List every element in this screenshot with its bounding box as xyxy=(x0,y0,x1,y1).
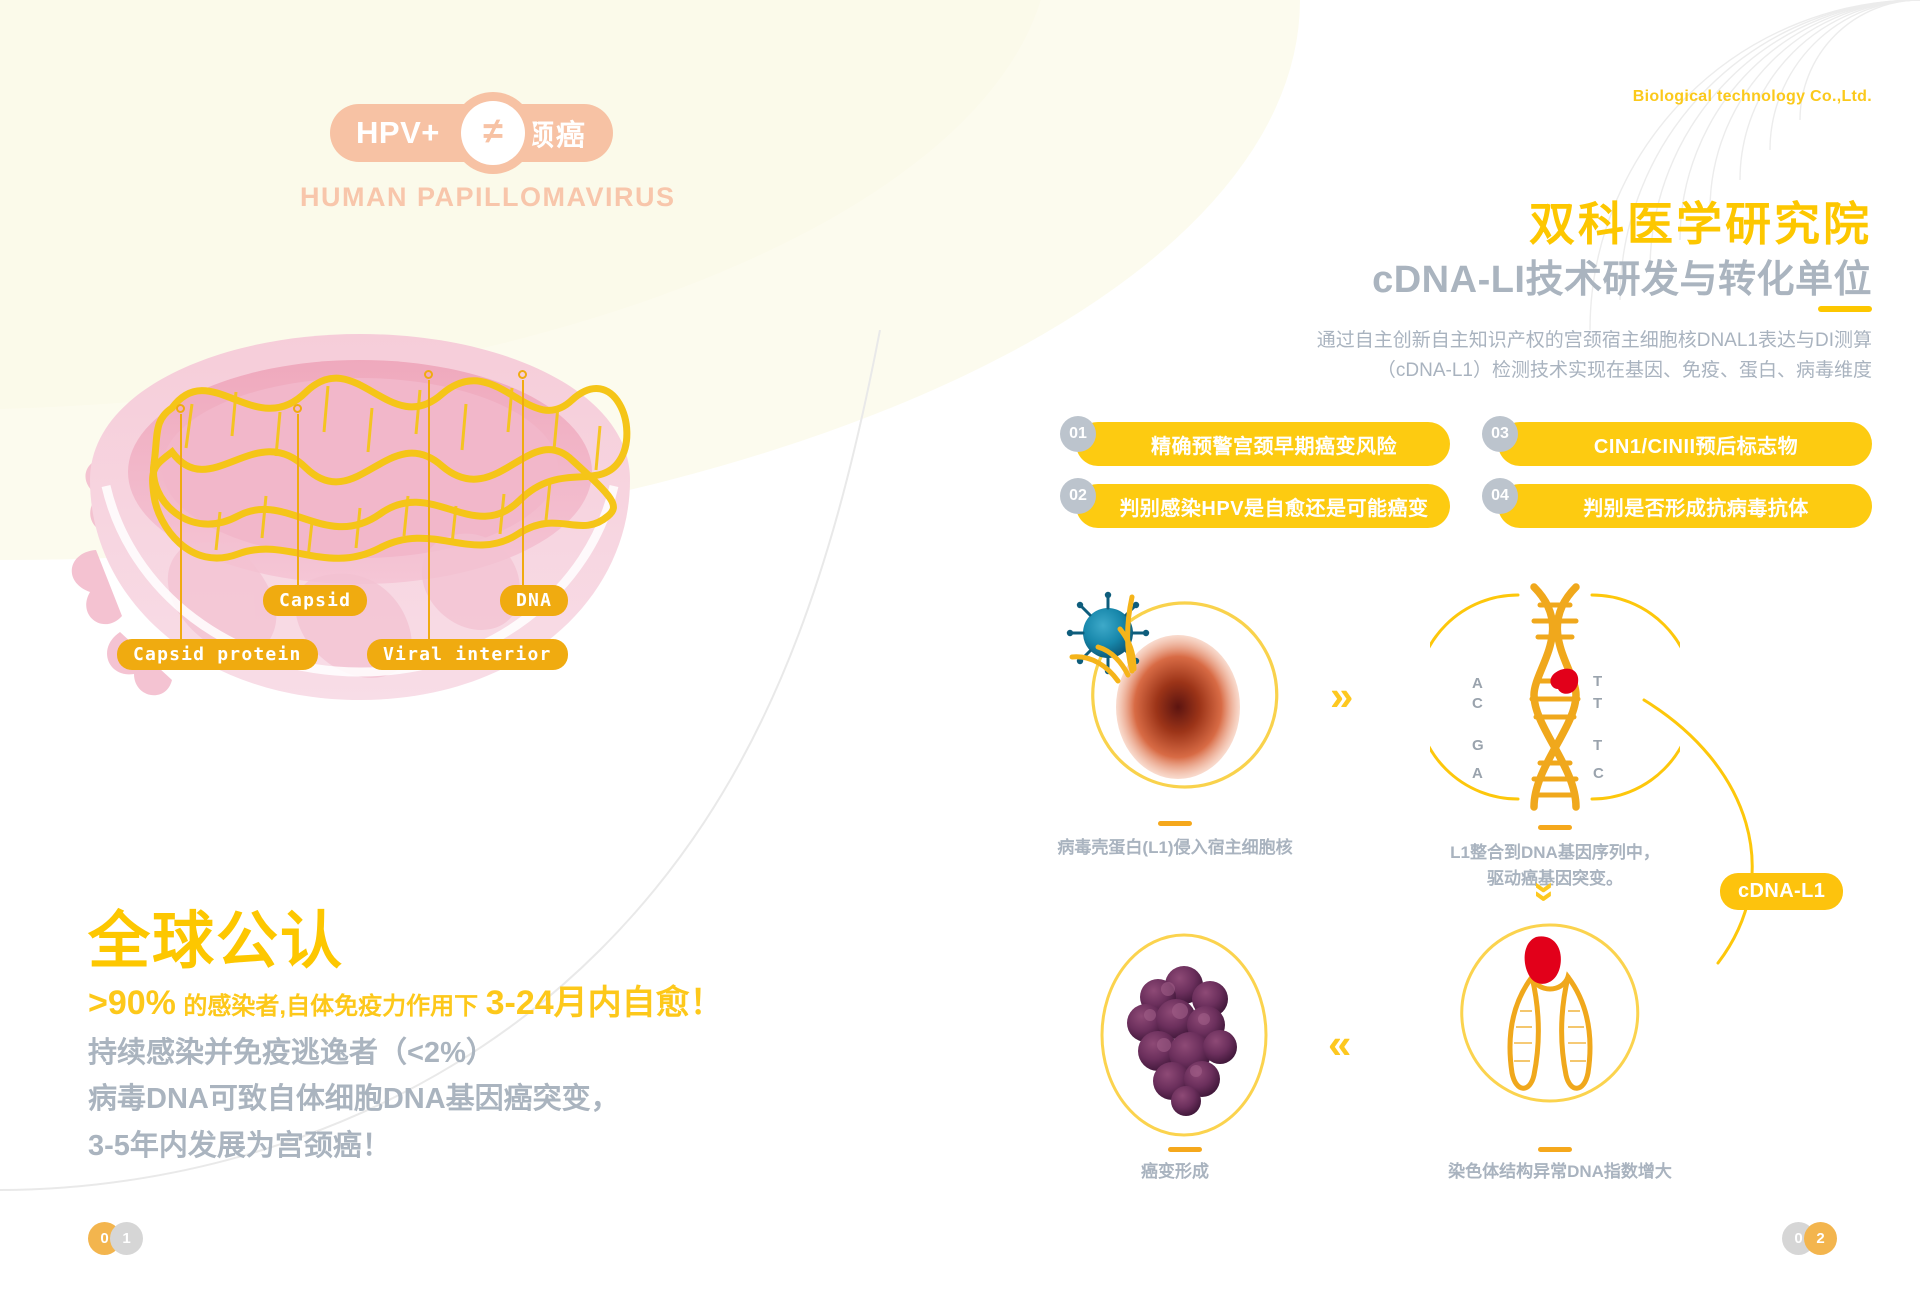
not-equal-glyph: ≠ xyxy=(461,101,525,165)
process-diagram: 病毒壳蛋白(L1)侵入宿主细胞核 » xyxy=(1040,585,1890,1145)
leader-dot-dna xyxy=(518,370,527,379)
body-line-1: 持续感染并免疫逃逸者（<2%） xyxy=(88,1030,620,1076)
feature-number-03: 03 xyxy=(1482,416,1518,452)
page-left-digit-2: 1 xyxy=(110,1222,143,1255)
chevron-left-icon: « xyxy=(1328,1023,1351,1065)
institute-description: 通过自主创新自主知识产权的宫颈宿主细胞核DNAL1表达与DI测算 （cDNA-L… xyxy=(1272,326,1872,386)
chevron-down-icon: » xyxy=(1527,881,1565,902)
feature-label-04: 判别是否形成抗病毒抗体 xyxy=(1498,484,1872,528)
stat-percent: >90% xyxy=(88,984,176,1022)
label-dna: DNA xyxy=(500,585,568,616)
not-equal-icon: ≠ xyxy=(452,92,534,174)
step-4-caption-rule xyxy=(1168,1147,1202,1152)
feature-item-01[interactable]: 精确预警宫颈早期癌变风险 01 xyxy=(1060,422,1450,466)
feature-number-01: 01 xyxy=(1060,416,1096,452)
infographic-page: HPV+ 宫颈癌 ≠ HUMAN PAPILLOMAVIRUS Biologic… xyxy=(0,0,1920,1303)
feature-item-03[interactable]: CIN1/CINII预后标志物 03 xyxy=(1482,422,1872,466)
feature-item-02[interactable]: 判别感染HPV是自愈还是可能癌变 02 xyxy=(1060,484,1450,528)
process-step-3-caption: 染色体结构异常DNA指数增大 xyxy=(1410,1159,1710,1185)
title-divider-rule xyxy=(1818,306,1872,312)
stat-duration: 3-24月内自愈！ xyxy=(486,984,724,1022)
label-capsid: Capsid xyxy=(263,585,367,616)
hpv-badge-left-text: HPV+ xyxy=(356,115,440,151)
dna-letter-left-1: A xyxy=(1472,675,1483,692)
institute-title: 双科医学研究院 xyxy=(1529,188,1872,254)
global-consensus-stat: >90% 的感染者,自体免疫力作用下 3-24月内自愈！ xyxy=(88,975,724,1024)
body-line-3: 3-5年内发展为宫颈癌！ xyxy=(88,1123,620,1169)
persistent-infection-body: 持续感染并免疫逃逸者（<2%） 病毒DNA可致自体细胞DNA基因癌突变， 3-5… xyxy=(88,1030,620,1169)
feature-label-02: 判别感染HPV是自愈还是可能癌变 xyxy=(1076,484,1450,528)
company-brandline: Biological technology Co.,Ltd. xyxy=(1633,88,1872,106)
feature-number-02: 02 xyxy=(1060,478,1096,514)
process-step-1-illustration xyxy=(1060,585,1290,815)
leader-dot-viral-interior xyxy=(424,370,433,379)
feature-number-04: 04 xyxy=(1482,478,1518,514)
leader-line-dna xyxy=(522,380,524,586)
leader-line-capsid-protein xyxy=(180,414,182,642)
page-number-left: 0 1 xyxy=(88,1222,143,1255)
step-1-caption-rule xyxy=(1158,821,1192,826)
step-2-caption-rule xyxy=(1538,825,1572,830)
body-line-2: 病毒DNA可致自体细胞DNA基因癌突变， xyxy=(88,1076,620,1122)
description-line-2: （cDNA-L1）检测技术实现在基因、免疫、蛋白、病毒维度 xyxy=(1272,356,1872,386)
global-consensus-title: 全球公认 xyxy=(88,890,344,980)
leader-line-viral-interior xyxy=(428,380,430,642)
dna-letter-left-3: G xyxy=(1472,737,1484,754)
feature-list: 精确预警宫颈早期癌变风险 01 CIN1/CINII预后标志物 03 判别感染H… xyxy=(1060,422,1872,528)
feature-label-01: 精确预警宫颈早期癌变风险 xyxy=(1076,422,1450,466)
process-step-3-illustration xyxy=(1428,915,1678,1145)
process-step-4-caption: 癌变形成 xyxy=(1110,1159,1240,1185)
feature-label-03: CIN1/CINII预后标志物 xyxy=(1498,422,1872,466)
dna-letter-left-4: A xyxy=(1472,765,1483,782)
stat-middle-text: 的感染者,自体免疫力作用下 xyxy=(183,993,478,1020)
cdna-l1-badge: cDNA-L1 xyxy=(1720,873,1843,910)
feature-item-04[interactable]: 判别是否形成抗病毒抗体 04 xyxy=(1482,484,1872,528)
step-3-caption-rule xyxy=(1538,1147,1572,1152)
leader-line-capsid xyxy=(297,414,299,586)
process-step-1-caption: 病毒壳蛋白(L1)侵入宿主细胞核 xyxy=(1045,835,1305,861)
institute-subtitle: cDNA-LI技术研发与转化单位 xyxy=(1372,248,1872,303)
page-right-digit-2: 2 xyxy=(1804,1222,1837,1255)
label-viral-interior: Viral interior xyxy=(367,639,568,670)
description-line-1: 通过自主创新自主知识产权的宫颈宿主细胞核DNAL1表达与DI测算 xyxy=(1272,326,1872,356)
process-step-4-illustration xyxy=(1080,915,1290,1145)
leader-dot-capsid xyxy=(293,404,302,413)
dna-letter-left-2: C xyxy=(1472,695,1483,712)
page-number-right: 0 2 xyxy=(1782,1222,1837,1255)
label-capsid-protein: Capsid protein xyxy=(117,639,318,670)
leader-dot-capsid-protein xyxy=(176,404,185,413)
chevron-right-icon: » xyxy=(1330,675,1353,717)
hpv-subtitle: HUMAN PAPILLOMAVIRUS xyxy=(300,182,676,213)
